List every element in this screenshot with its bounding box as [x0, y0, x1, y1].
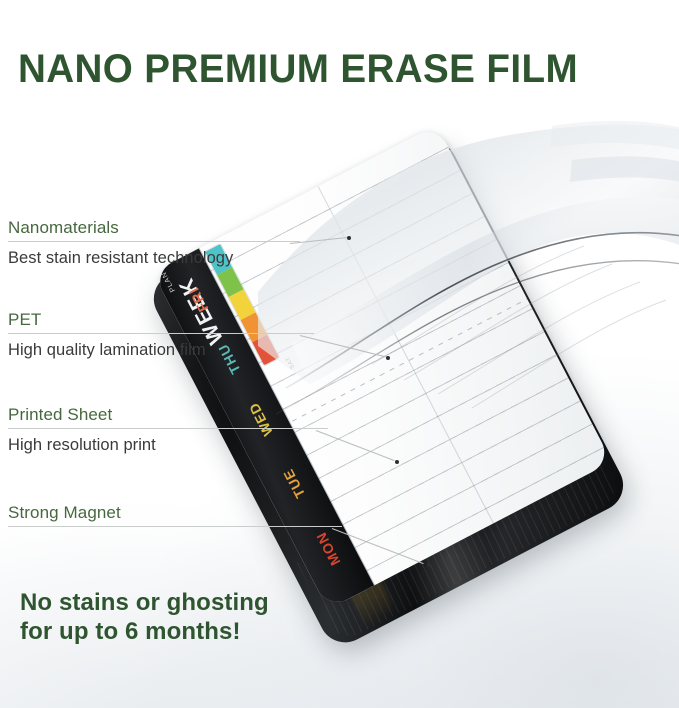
spec-subtitle-pet: High quality lamination film	[8, 334, 314, 360]
leader-dot-strong-magnet	[427, 563, 431, 567]
spec-rule-strong-magnet	[8, 526, 342, 527]
product-illustration: PLAN WEEK SAT FRI THU WED TUE MON	[252, 96, 679, 676]
leader-dot-printed-sheet	[395, 460, 399, 464]
tagline-line-1: No stains or ghosting	[20, 588, 269, 617]
spec-pet: PET High quality lamination film	[8, 310, 314, 360]
spec-subtitle-printed-sheet: High resolution print	[8, 429, 328, 455]
spec-title-printed-sheet: Printed Sheet	[8, 405, 328, 428]
spec-title-nanomaterials: Nanomaterials	[8, 218, 300, 241]
spec-title-strong-magnet: Strong Magnet	[8, 503, 342, 526]
infographic-canvas: PLAN WEEK SAT FRI THU WED TUE MON	[0, 0, 679, 708]
spec-subtitle-nanomaterials: Best stain resistant technology	[8, 242, 300, 268]
spec-nanomaterials: Nanomaterials Best stain resistant techn…	[8, 218, 300, 268]
leader-dot-pet	[386, 356, 390, 360]
spec-strong-magnet: Strong Magnet	[8, 503, 342, 527]
page-title: NANO PREMIUM ERASE FILM	[18, 46, 645, 92]
tagline: No stains or ghosting for up to 6 months…	[20, 588, 269, 646]
spec-title-pet: PET	[8, 310, 314, 333]
spec-printed-sheet: Printed Sheet High resolution print	[8, 405, 328, 455]
leader-dot-nanomaterials	[347, 236, 351, 240]
tagline-line-2: for up to 6 months!	[20, 617, 269, 646]
